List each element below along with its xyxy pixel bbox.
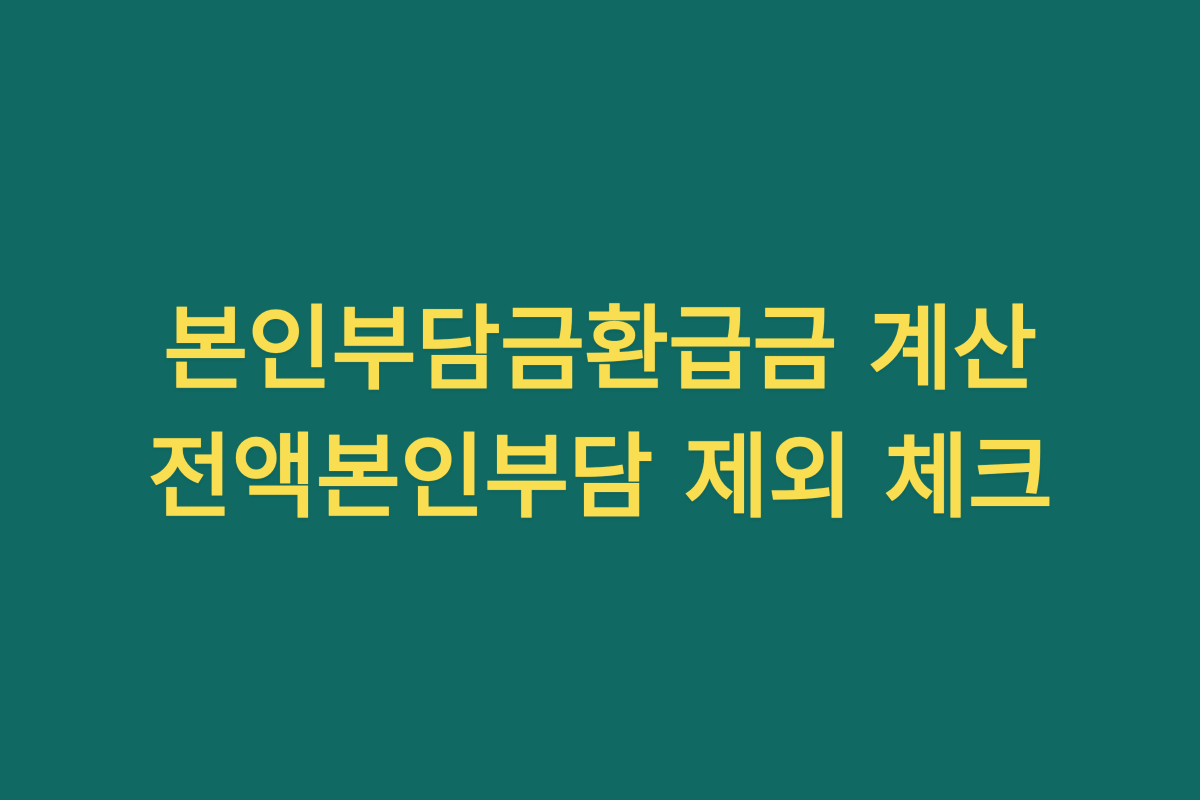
headline-line-2: 전액본인부담 제외 체크: [0, 414, 1200, 542]
headline-block: 본인부담금환급금 계산 전액본인부담 제외 체크: [0, 286, 1200, 542]
headline-line-1: 본인부담금환급금 계산: [0, 286, 1200, 414]
text-banner: 본인부담금환급금 계산 전액본인부담 제외 체크: [0, 0, 1200, 800]
